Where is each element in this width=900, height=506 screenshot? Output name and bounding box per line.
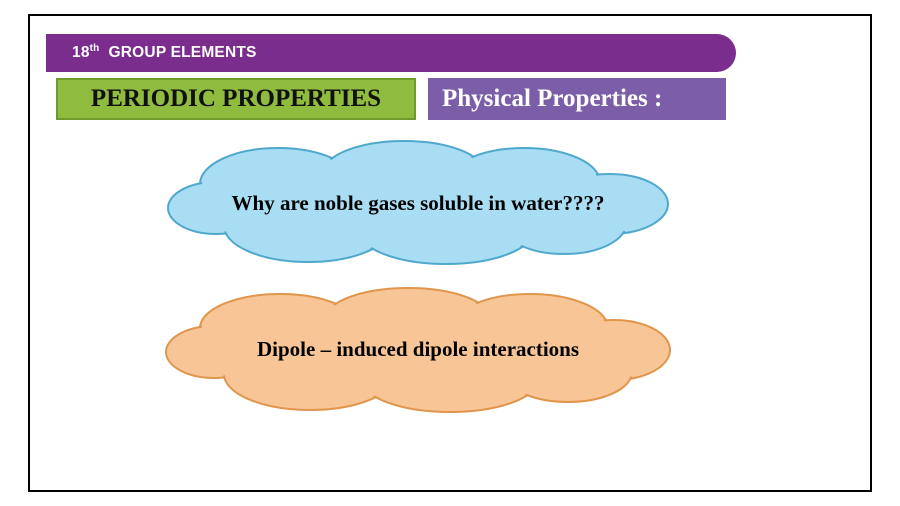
question-cloud-shape (158, 138, 678, 268)
slide-title-ordinal-suffix: th (90, 43, 100, 54)
answer-cloud-shape (158, 284, 678, 414)
slide-title: 18th GROUP ELEMENTS (72, 43, 257, 62)
slide-title-rest: GROUP ELEMENTS (109, 44, 257, 61)
question-cloud: Why are noble gases soluble in water???? (158, 138, 678, 268)
physical-properties-box: Physical Properties : (428, 78, 726, 120)
answer-cloud: Dipole – induced dipole interactions (158, 284, 678, 414)
periodic-properties-label: PERIODIC PROPERTIES (91, 85, 381, 113)
slide-title-number: 18 (72, 44, 90, 61)
periodic-properties-box: PERIODIC PROPERTIES (56, 78, 416, 120)
physical-properties-label: Physical Properties : (428, 85, 662, 113)
slide-canvas: 18th GROUP ELEMENTS PERIODIC PROPERTIES … (28, 14, 872, 492)
slide-title-banner: 18th GROUP ELEMENTS (46, 34, 736, 72)
